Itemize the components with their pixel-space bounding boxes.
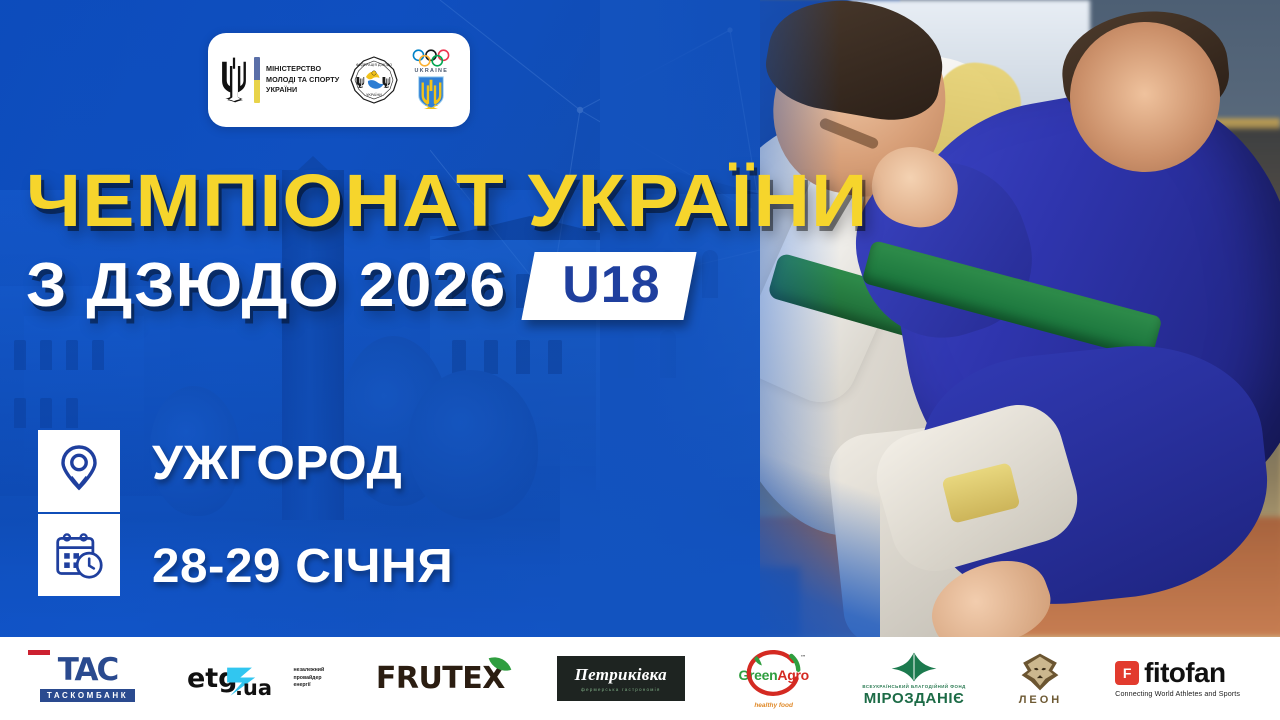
location-value: УЖГОРОД xyxy=(152,436,453,491)
noc-shield-icon xyxy=(416,75,446,109)
ministry-line-2: МОЛОДІ ТА СПОРТУ xyxy=(266,75,339,85)
petrykivka-name: Петриківка xyxy=(575,665,667,685)
etg-mark: etg .ua xyxy=(187,665,238,692)
mirozdanie-leaf-icon xyxy=(890,651,938,683)
leon-lion-icon xyxy=(1017,652,1063,692)
organizer-logo-bar: МІНІСТЕРСТВО МОЛОДІ ТА СПОРТУ УКРАЇНИ ФЕ… xyxy=(208,33,470,127)
olympic-rings-icon xyxy=(411,49,451,67)
noc-label: UKRAINE xyxy=(414,68,448,74)
federation-arc-bottom: УКРАЇНИ xyxy=(367,92,383,97)
sponsor-bar: TAC ТАСКОМБАНК etg .ua незалежний провай… xyxy=(0,637,1280,720)
sponsor-taskombank[interactable]: TAC ТАСКОМБАНК xyxy=(40,651,135,707)
headline-second-row: З ДЗЮДО 2026 U18 xyxy=(26,252,821,320)
fitofan-mark-icon: F xyxy=(1115,661,1139,685)
ministry-flag-bars xyxy=(254,57,260,103)
sponsor-greenagro[interactable]: ™ GreenAgro healthy food xyxy=(737,651,811,707)
etg-domain: .ua xyxy=(235,678,272,699)
sponsor-mirozdanie[interactable]: ВСЕУКРАЇНСЬКИЙ БЛАГОДІЙНИЙ ФОНД МІРОЗДАН… xyxy=(862,651,965,707)
fitofan-tagline: Connecting World Athletes and Sports xyxy=(1115,689,1240,698)
event-info-block: УЖГОРОД 28-29 СІЧНЯ xyxy=(38,430,445,600)
federation-arc-top: ФЕДЕРАЦІЯ ДЗЮДО xyxy=(356,63,392,67)
poster-canvas: 0 0 0 0 xyxy=(0,0,1280,720)
petrykivka-tagline: фермерська гастрономія xyxy=(581,687,661,692)
map-pin-icon xyxy=(55,444,103,498)
ministry-name: МІНІСТЕРСТВО МОЛОДІ ТА СПОРТУ УКРАЇНИ xyxy=(266,64,339,95)
headline-block: ЧЕМПІОНАТ УКРАЇНИ З ДЗЮДО 2026 U18 xyxy=(26,166,821,320)
date-value: 28-29 СІЧНЯ xyxy=(152,539,453,594)
svg-text:™: ™ xyxy=(800,654,806,661)
sponsor-frutex[interactable]: FRUTEX xyxy=(376,651,505,707)
page-title: ЧЕМПІОНАТ УКРАЇНИ xyxy=(26,166,868,236)
age-category-label: U18 xyxy=(562,259,660,311)
ministry-logo: МІНІСТЕРСТВО МОЛОДІ ТА СПОРТУ УКРАЇНИ xyxy=(220,57,339,103)
info-icon-column xyxy=(38,430,120,600)
leon-name: ЛЕОН xyxy=(1019,694,1063,706)
taskombank-mark: TAC xyxy=(58,655,117,686)
info-text-column: УЖГОРОД 28-29 СІЧНЯ xyxy=(120,430,445,600)
location-icon-box xyxy=(38,430,120,512)
greenagro-tagline: healthy food xyxy=(754,702,793,709)
frutex-wordmark: FRUTEX xyxy=(376,661,505,696)
taskombank-name: ТАСКОМБАНК xyxy=(40,689,135,702)
sponsor-fitofan[interactable]: F fitofan Connecting World Athletes and … xyxy=(1115,651,1240,707)
taskombank-accent xyxy=(28,650,50,655)
sponsor-leon[interactable]: ЛЕОН xyxy=(1017,651,1063,707)
ministry-line-3: УКРАЇНИ xyxy=(266,85,339,95)
mirozdanie-name: МІРОЗДАНІЄ xyxy=(864,690,965,707)
sponsor-etg-ua[interactable]: etg .ua незалежний провайдер енергії xyxy=(187,651,324,707)
noc-ukraine-logo: UKRAINE xyxy=(409,49,453,111)
headline-subtitle: З ДЗЮДО 2026 xyxy=(26,255,506,317)
judo-federation-emblem-icon: ФЕДЕРАЦІЯ ДЗЮДО УКРАЇНИ xyxy=(349,55,399,105)
frutex-leaf-icon xyxy=(489,653,512,676)
etg-tagline: незалежний провайдер енергії xyxy=(293,667,324,690)
age-category-badge: U18 xyxy=(521,252,697,320)
date-icon-box xyxy=(38,514,120,596)
fitofan-name: fitofan xyxy=(1144,659,1225,687)
calendar-clock-icon xyxy=(54,530,104,580)
mirozdanie-tagline: ВСЕУКРАЇНСЬКИЙ БЛАГОДІЙНИЙ ФОНД xyxy=(862,684,965,689)
ministry-line-1: МІНІСТЕРСТВО xyxy=(266,64,339,74)
ukraine-trident-icon xyxy=(220,57,248,103)
greenagro-ring-icon: ™ xyxy=(737,649,811,701)
sponsor-petrykivka[interactable]: Петриківка фермерська гастрономія xyxy=(557,651,685,707)
